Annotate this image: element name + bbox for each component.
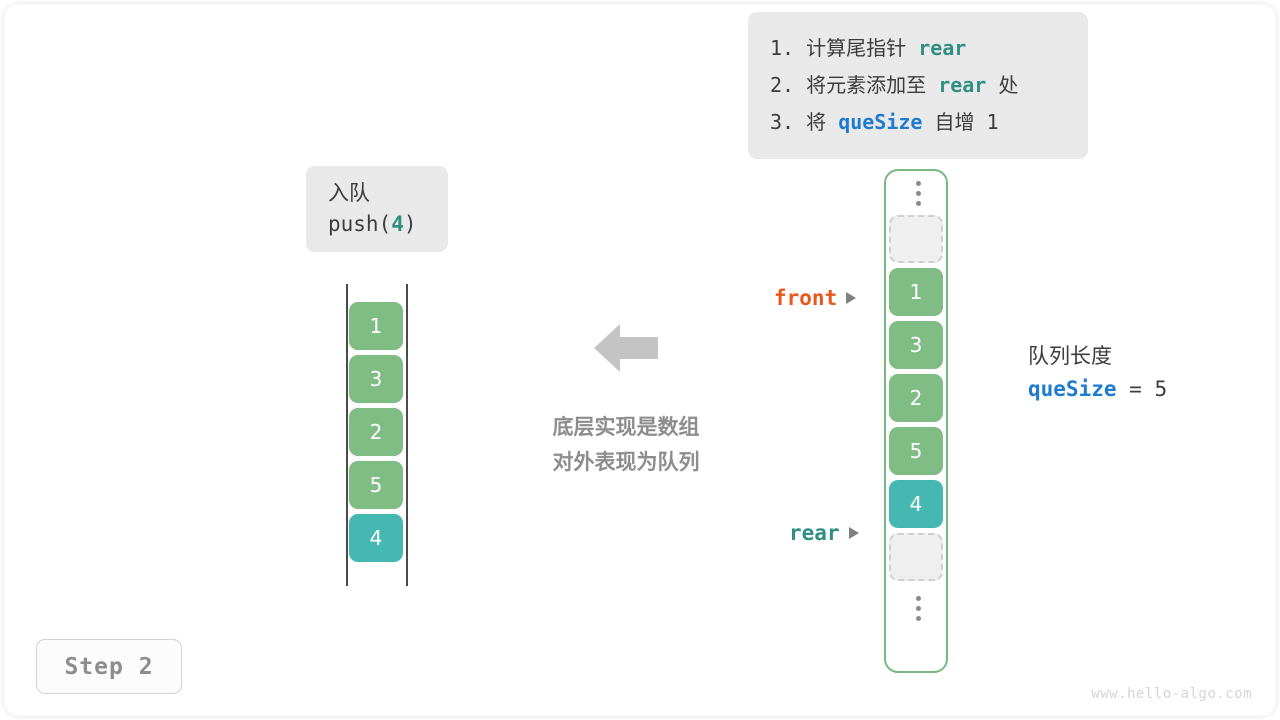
instruction-1-text: 计算尾指针 <box>806 36 906 60</box>
pointer-rear-label: rear <box>789 521 840 545</box>
vertical-ellipsis-icon <box>889 171 947 215</box>
vertical-ellipsis-icon <box>889 586 947 630</box>
instruction-3-number: 3. <box>770 110 794 134</box>
step-badge: Step 2 <box>36 639 182 694</box>
diagram-caption: 底层实现是数组 对外表现为队列 <box>520 410 732 480</box>
array-cell-empty <box>889 533 943 581</box>
caption-line-2: 对外表现为队列 <box>520 445 732 480</box>
push-box-title: 入队 <box>328 178 448 208</box>
quesize-value: 5 <box>1154 377 1167 401</box>
array-cell-empty <box>889 215 943 263</box>
quesize-info: 队列长度 queSize = 5 <box>1028 340 1167 406</box>
triangle-right-icon <box>849 527 859 539</box>
instruction-box: 1. 计算尾指针 rear 2. 将元素添加至 rear 处 3. 将 queS… <box>748 12 1088 159</box>
quesize-expression: queSize = 5 <box>1028 372 1167 406</box>
quesize-equals: = <box>1117 377 1155 401</box>
array-cell: 1 <box>889 268 943 316</box>
triangle-right-icon <box>846 292 856 304</box>
queue-rail-right <box>406 284 408 586</box>
instruction-3-text: 将 <box>806 110 826 134</box>
array-container: 13254 <box>884 169 948 673</box>
instruction-line-2: 2. 将元素添加至 rear 处 <box>770 67 1066 104</box>
push-call-suffix: ) <box>404 212 417 236</box>
instruction-3-suffix: 自增 1 <box>935 110 999 134</box>
array-cell: 2 <box>349 408 403 456</box>
arrow-left-icon <box>594 322 658 374</box>
caption-line-1: 底层实现是数组 <box>520 410 732 445</box>
array-cell-list: 13254 <box>889 171 947 630</box>
array-cell: 1 <box>349 302 403 350</box>
queue-rail-left <box>346 284 348 586</box>
quesize-name: queSize <box>1028 377 1117 401</box>
array-cell: 3 <box>349 355 403 403</box>
instruction-1-token: rear <box>918 36 966 60</box>
array-cell: 4 <box>349 514 403 562</box>
array-cell: 5 <box>349 461 403 509</box>
array-cell: 3 <box>889 321 943 369</box>
instruction-3-token: queSize <box>838 110 922 134</box>
push-box-call: push(4) <box>328 208 448 240</box>
pointer-front: front <box>774 286 856 310</box>
queue-view: 13254 <box>340 284 416 586</box>
pointer-front-label: front <box>774 286 837 310</box>
instruction-1-number: 1. <box>770 36 794 60</box>
queue-cell-list: 13254 <box>349 302 403 567</box>
instruction-2-token: rear <box>938 73 986 97</box>
instruction-line-3: 3. 将 queSize 自增 1 <box>770 104 1066 141</box>
instruction-2-text: 将元素添加至 <box>806 73 926 97</box>
array-cell: 5 <box>889 427 943 475</box>
instruction-2-number: 2. <box>770 73 794 97</box>
step-badge-label: Step 2 <box>64 654 153 680</box>
instruction-2-suffix: 处 <box>998 73 1018 97</box>
watermark: www.hello-algo.com <box>1091 686 1252 702</box>
push-call-arg: 4 <box>391 212 404 236</box>
array-cell: 2 <box>889 374 943 422</box>
array-cell: 4 <box>889 480 943 528</box>
instruction-line-1: 1. 计算尾指针 rear <box>770 30 1066 67</box>
push-call-prefix: push( <box>328 212 391 236</box>
diagram-canvas: 1. 计算尾指针 rear 2. 将元素添加至 rear 处 3. 将 queS… <box>0 0 1280 720</box>
quesize-title: 队列长度 <box>1028 340 1167 372</box>
pointer-rear: rear <box>789 521 859 545</box>
push-operation-box: 入队 push(4) <box>306 166 448 252</box>
